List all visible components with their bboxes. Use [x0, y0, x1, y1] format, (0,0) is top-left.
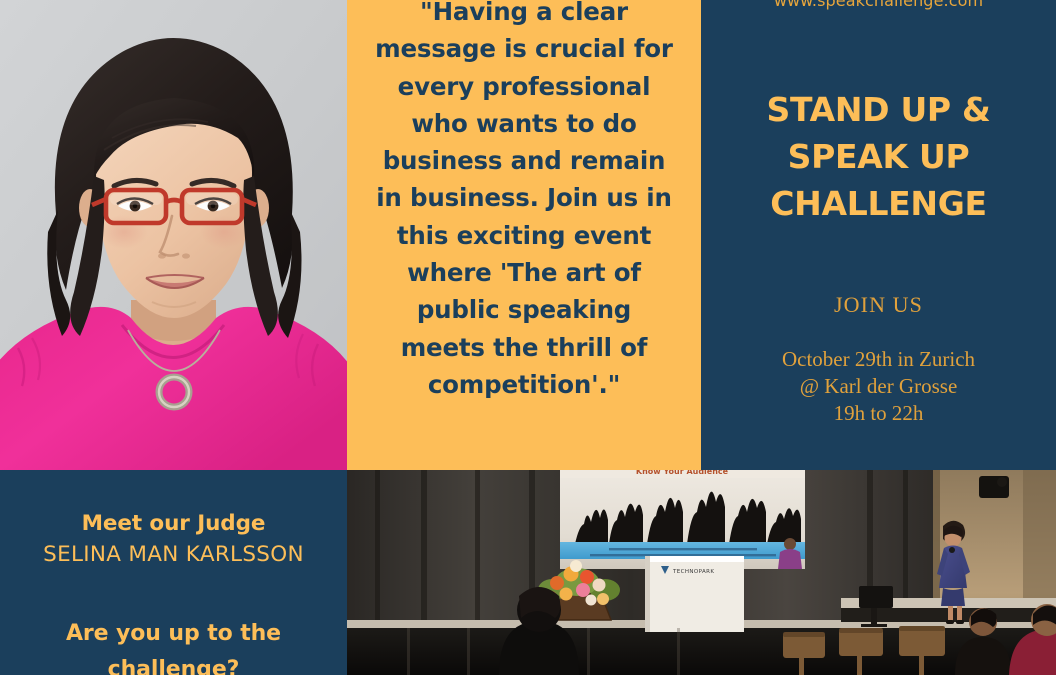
event-date: October 29th in Zurich: [701, 346, 1056, 373]
event-time: 19h to 22h: [701, 400, 1056, 427]
judge-portrait-illustration: [0, 0, 347, 470]
svg-text:Know Your Audience: Know Your Audience: [636, 470, 729, 476]
judge-portrait-photo: [0, 0, 347, 470]
judge-panel: Meet our Judge SELINA MAN KARLSSON Are y…: [0, 470, 347, 675]
conference-stage-illustration: Know Your Audience: [347, 470, 1056, 675]
event-venue: @ Karl der Grosse: [701, 373, 1056, 400]
quote-text: "Having a clear message is crucial for e…: [375, 0, 673, 403]
poster-top-row: "Having a clear message is crucial for e…: [0, 0, 1056, 470]
quote-panel: "Having a clear message is crucial for e…: [347, 0, 701, 470]
join-us-label: JOIN US: [701, 292, 1056, 318]
svg-text:TECHNOPARK: TECHNOPARK: [672, 569, 714, 575]
judge-intro-label: Meet our Judge: [0, 505, 347, 542]
title-panel: www.speakchallenge.com STAND UP & SPEAK …: [701, 0, 1056, 470]
conference-stage-photo: Know Your Audience: [347, 470, 1056, 675]
website-url[interactable]: www.speakchallenge.com: [701, 0, 1056, 10]
page-title: STAND UP & SPEAK UP CHALLENGE: [717, 86, 1040, 227]
event-poster: "Having a clear message is crucial for e…: [0, 0, 1056, 675]
event-details: October 29th in Zurich @ Karl der Grosse…: [701, 346, 1056, 427]
poster-bottom-row: Meet our Judge SELINA MAN KARLSSON Are y…: [0, 470, 1056, 675]
judge-name: SELINA MAN KARLSSON: [0, 542, 347, 567]
judge-call-to-action: Are you up to the challenge?: [10, 616, 337, 675]
